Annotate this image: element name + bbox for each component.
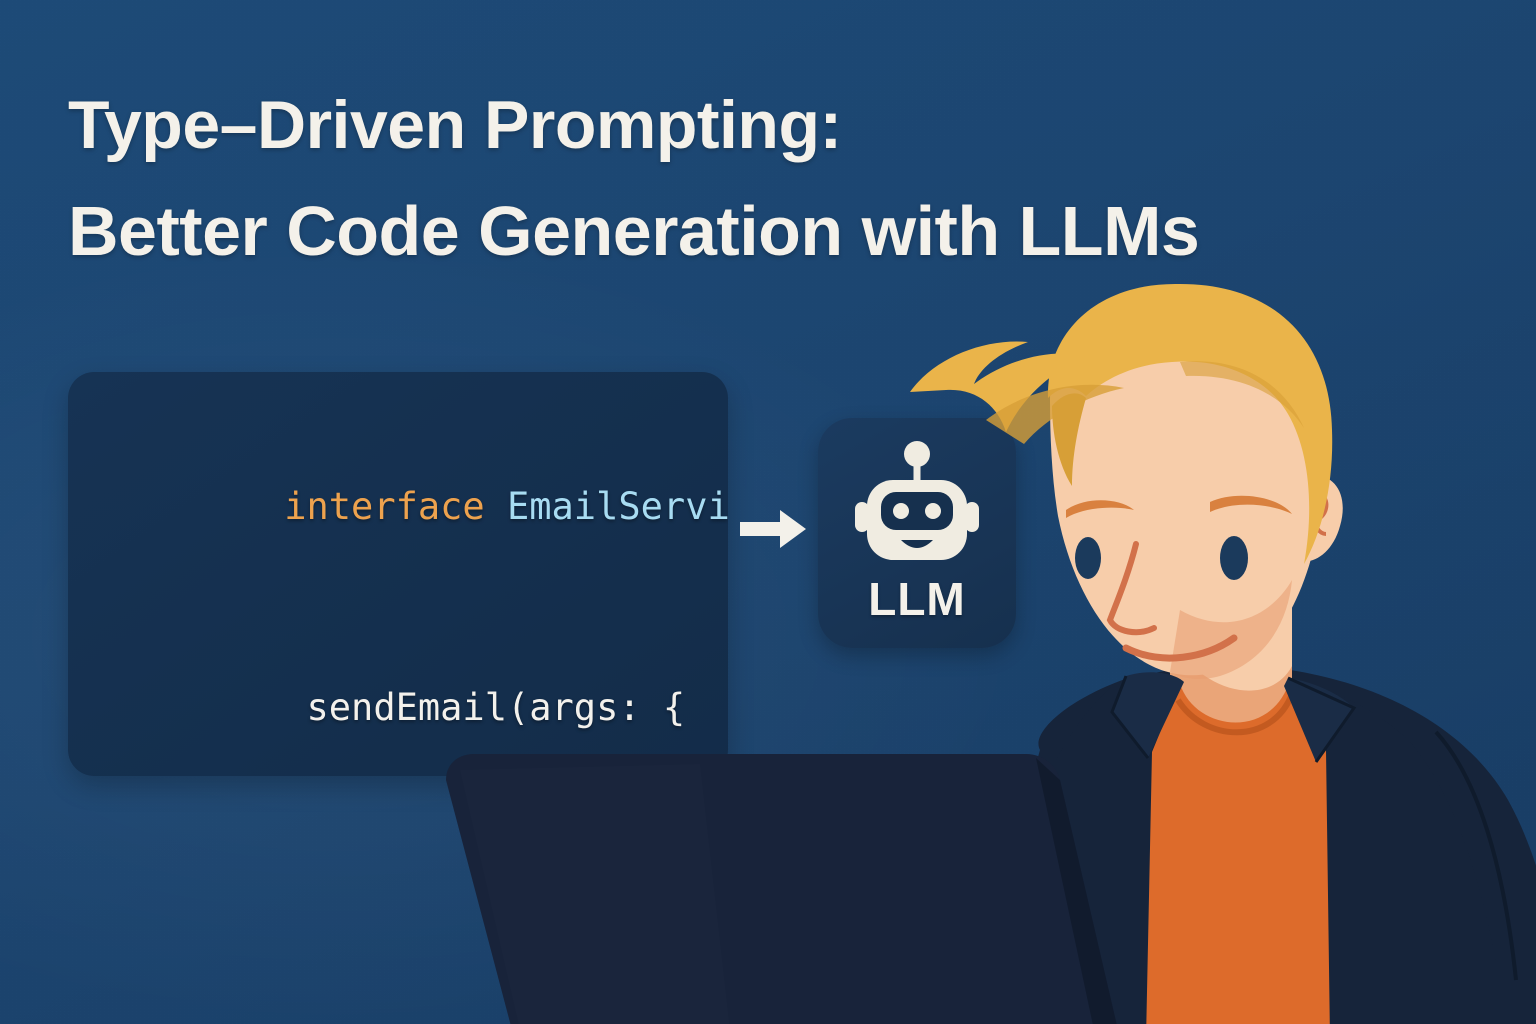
laptop-svg — [400, 740, 1120, 1024]
code-snippet-card: interface EmailService { sendEmail(args:… — [68, 372, 728, 776]
arrow-right-icon — [740, 502, 810, 556]
title-line-primary: Type–Driven Prompting: — [68, 72, 1536, 178]
laptop-illustration — [400, 740, 1120, 1024]
eye-right — [1220, 536, 1248, 580]
code-token-type: EmailService — [507, 485, 728, 528]
page-title: Type–Driven Prompting: Better Code Gener… — [68, 72, 1536, 284]
code-block: interface EmailService { sendEmail(args:… — [106, 406, 718, 776]
title-line-secondary: Better Code Generation with LLMs — [68, 178, 1536, 284]
code-token-plain: sendEmail(args: { — [284, 686, 685, 729]
eye-left — [1075, 537, 1101, 579]
code-token-keyword: interface — [284, 485, 507, 528]
code-line: interface EmailService { — [106, 406, 718, 607]
flow-arrow — [740, 502, 810, 556]
poster-canvas: Type–Driven Prompting: Better Code Gener… — [0, 0, 1536, 1024]
